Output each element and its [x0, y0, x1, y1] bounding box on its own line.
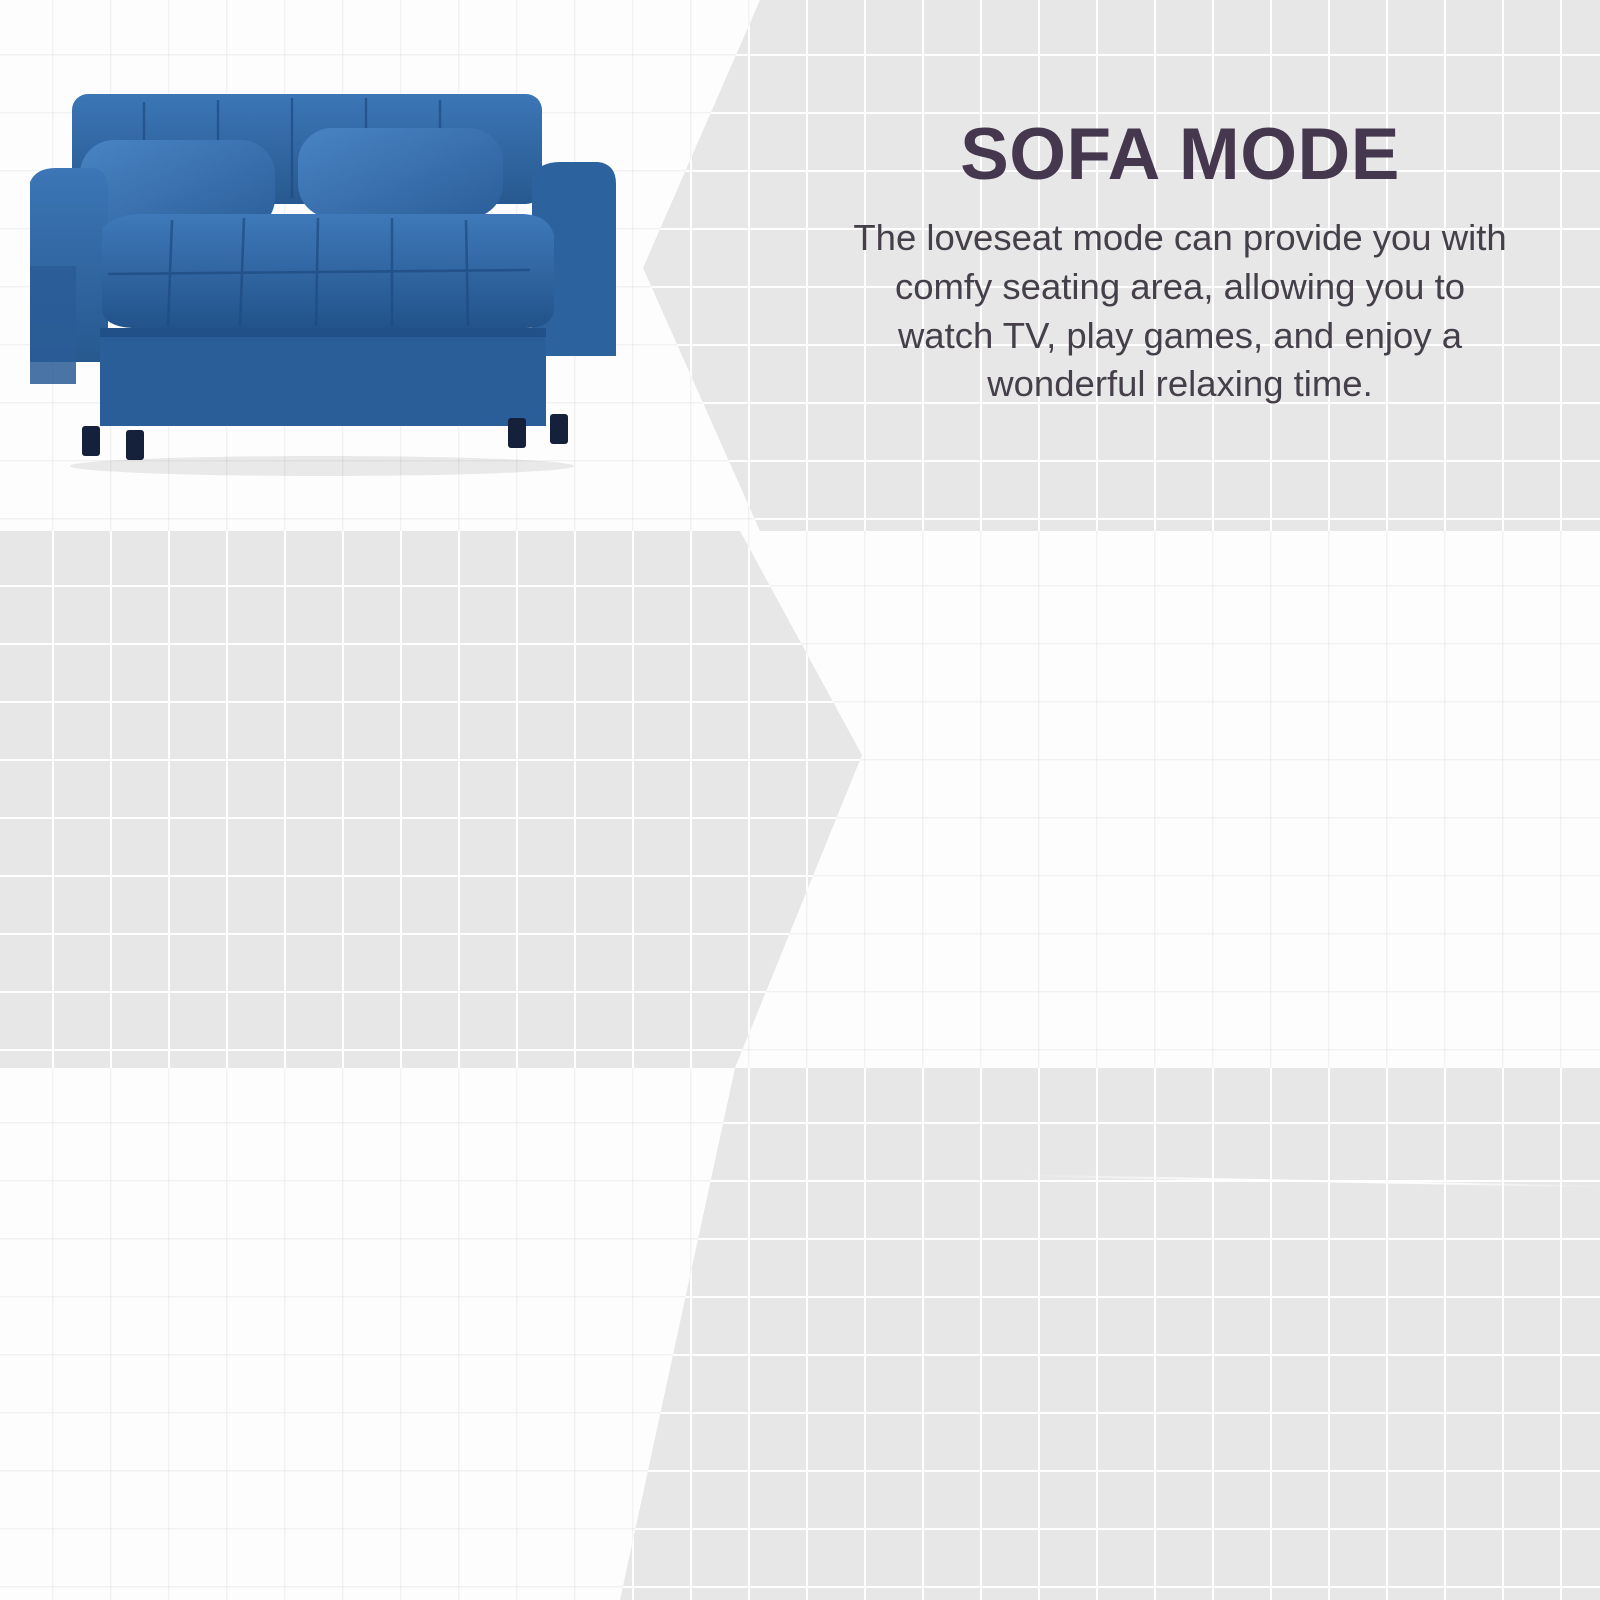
sofa-desc-line-3: watch TV, play games, and enjoy a — [800, 312, 1560, 361]
infographic-canvas: SOFA MODE The loveseat mode can provide … — [0, 0, 1600, 1600]
sofa-desc-line-2: comfy seating area, allowing you to — [800, 263, 1560, 312]
sofa-desc-line-1: The loveseat mode can provide you with — [800, 214, 1560, 263]
sofa-desc-line-4: wonderful relaxing time. — [800, 360, 1560, 409]
section-bed-row: BED MODE Pull down the backrest to turn … — [0, 1068, 1600, 1600]
sofa-mode-illustration — [22, 78, 642, 478]
section-sofa-row: SOFA MODE The loveseat mode can provide … — [0, 0, 1600, 531]
sofa-mode-text: SOFA MODE The loveseat mode can provide … — [800, 118, 1560, 409]
sofa-mode-heading: SOFA MODE — [800, 118, 1560, 192]
section-lounger-row: LOUNGER MODE Pull out the end of the sof… — [0, 531, 1600, 1068]
sofa-mode-description: The loveseat mode can provide you with c… — [800, 214, 1560, 408]
